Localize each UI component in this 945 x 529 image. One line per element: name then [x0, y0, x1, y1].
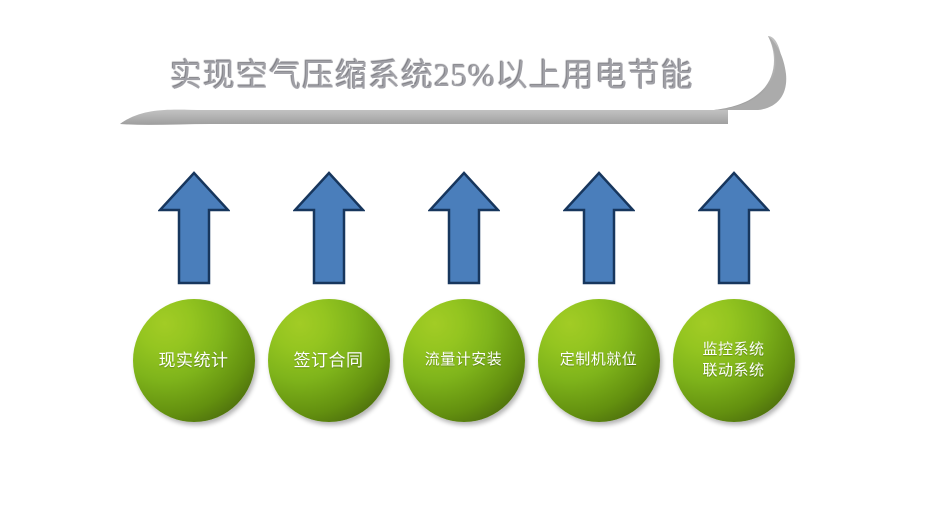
up-arrow-icon — [428, 170, 500, 286]
step-label: 签订合同 — [288, 350, 370, 372]
step-circle[interactable]: 流量计安装 — [403, 299, 525, 422]
up-arrow-icon — [158, 170, 230, 286]
step-label: 现实统计 — [153, 350, 235, 372]
up-arrow-icon — [563, 170, 635, 286]
step-circle[interactable]: 现实统计 — [133, 299, 255, 422]
process-step: 现实统计 — [126, 0, 261, 529]
process-step: 定制机就位 — [531, 0, 666, 529]
up-arrow-icon — [293, 170, 365, 286]
process-steps: 现实统计 签订合同 流量计安装 — [0, 0, 945, 529]
up-arrow-icon — [698, 170, 770, 286]
step-label: 监控系统 联动系统 — [696, 340, 770, 381]
step-circle[interactable]: 监控系统 联动系统 — [673, 299, 795, 422]
presentation-slide: 实现空气压缩系统25%以上用电节能 现实统计 签订合同 — [0, 0, 945, 529]
step-circle[interactable]: 签订合同 — [268, 299, 390, 422]
process-step: 签订合同 — [261, 0, 396, 529]
step-label: 流量计安装 — [419, 351, 509, 370]
process-step: 监控系统 联动系统 — [666, 0, 801, 529]
step-label: 定制机就位 — [554, 351, 644, 370]
step-circle[interactable]: 定制机就位 — [538, 299, 660, 422]
process-step: 流量计安装 — [396, 0, 531, 529]
